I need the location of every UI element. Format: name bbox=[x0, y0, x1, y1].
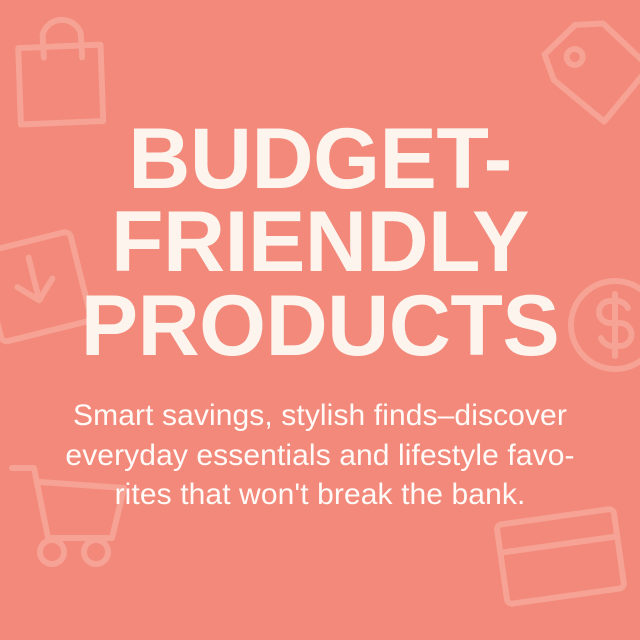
headline-line-1: BUDGET- bbox=[0, 118, 640, 201]
subtitle-line-3: rites that won't break the bank. bbox=[0, 475, 640, 515]
headline-line-3: PRODUCTS bbox=[0, 285, 640, 368]
subtitle-line-1: Smart savings, stylish finds–discover bbox=[0, 396, 640, 436]
subtitle-line-2: everyday essentials and lifestyle favo- bbox=[0, 436, 640, 476]
headline-line-2: FRIENDLY bbox=[0, 201, 640, 284]
page-title: BUDGET- FRIENDLY PRODUCTS bbox=[0, 118, 640, 368]
poster-content: BUDGET- FRIENDLY PRODUCTS Smart savings,… bbox=[0, 0, 640, 640]
promo-poster: BUDGET- FRIENDLY PRODUCTS Smart savings,… bbox=[0, 0, 640, 640]
subtitle: Smart savings, stylish finds–discover ev… bbox=[0, 396, 640, 515]
